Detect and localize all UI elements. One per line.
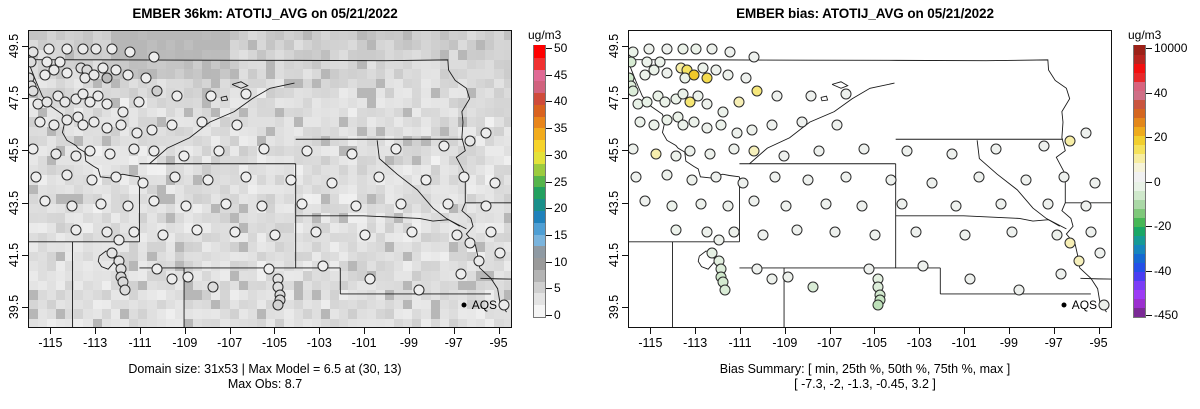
- station-marker: [95, 198, 106, 209]
- station-marker: [973, 172, 984, 183]
- station-marker: [783, 271, 794, 282]
- station-marker: [639, 195, 650, 206]
- y-tick: [622, 150, 628, 151]
- station-marker: [310, 227, 321, 238]
- station-marker: [722, 70, 733, 81]
- colorbar-segment: [1134, 135, 1145, 145]
- station-marker: [628, 57, 637, 68]
- station-marker: [841, 88, 852, 99]
- colorbar-segment: [1134, 189, 1145, 199]
- station-marker: [102, 99, 113, 110]
- colorbar-tick: [1146, 48, 1152, 49]
- station-marker: [688, 117, 699, 128]
- x-tick: [1054, 328, 1055, 334]
- colorbar-segment: [534, 245, 545, 258]
- station-marker: [129, 143, 140, 154]
- station-marker: [1065, 237, 1076, 248]
- station-marker: [481, 127, 492, 138]
- station-marker: [149, 52, 160, 63]
- colorbar-tick-label: 10000: [1154, 41, 1187, 55]
- station-marker: [104, 148, 115, 159]
- station-marker: [490, 177, 501, 188]
- station-marker: [648, 65, 659, 76]
- y-tick: [22, 46, 28, 47]
- station-marker: [48, 120, 59, 131]
- station-marker: [644, 44, 655, 55]
- station-marker: [821, 198, 832, 209]
- station-marker: [662, 114, 673, 125]
- station-marker: [697, 62, 708, 73]
- colorbar-segment: [1134, 171, 1145, 181]
- station-marker: [102, 227, 113, 238]
- station-marker: [451, 229, 462, 240]
- model-caption-line1: Domain size: 31x53 | Max Model = 6.5 at …: [0, 362, 530, 376]
- colorbar-segment: [534, 198, 545, 211]
- panel-bias-title: EMBER bias: ATOTIJ_AVG on 05/21/2022: [600, 6, 1130, 21]
- colorbar-segment: [534, 304, 545, 317]
- station-marker: [886, 175, 897, 186]
- y-tick-label: 49.5: [7, 34, 21, 58]
- colorbar-bias-bar: [1133, 45, 1146, 318]
- colorbar-segment: [1134, 298, 1145, 308]
- station-marker: [494, 248, 505, 259]
- station-marker: [711, 172, 722, 183]
- station-marker: [857, 201, 868, 212]
- colorbar-segment: [534, 139, 545, 152]
- station-marker: [805, 91, 816, 102]
- station-marker: [724, 46, 735, 57]
- station-marker: [1085, 227, 1096, 238]
- y-tick: [22, 255, 28, 256]
- station-marker: [960, 229, 971, 240]
- station-marker: [1099, 300, 1110, 311]
- station-marker: [666, 201, 677, 212]
- station-marker: [151, 86, 162, 97]
- station-marker: [677, 120, 688, 131]
- colorbar-segment: [1134, 126, 1145, 136]
- station-marker: [183, 271, 194, 282]
- station-marker: [259, 143, 270, 154]
- map-plot-bias[interactable]: AQS: [628, 30, 1112, 328]
- x-tick-label: -105: [262, 336, 287, 350]
- colorbar-segment: [1134, 45, 1145, 55]
- station-marker: [263, 263, 274, 274]
- station-marker: [792, 224, 803, 235]
- station-marker: [207, 282, 218, 293]
- colorbar-segment: [1134, 72, 1145, 82]
- colorbar-segment: [1134, 199, 1145, 209]
- station-marker: [872, 300, 883, 311]
- station-marker: [1081, 127, 1092, 138]
- y-tick: [622, 307, 628, 308]
- colorbar-tick: [1146, 315, 1152, 316]
- colorbar-tick: [1146, 226, 1152, 227]
- station-marker: [995, 198, 1006, 209]
- station-marker: [1056, 269, 1067, 280]
- station-marker: [286, 175, 297, 186]
- colorbar-segment: [1134, 144, 1145, 154]
- colorbar-tick-label: 0: [554, 308, 561, 322]
- station-marker: [796, 117, 807, 128]
- y-tick: [622, 203, 628, 204]
- y-tick: [22, 98, 28, 99]
- station-marker: [351, 201, 362, 212]
- station-marker: [30, 172, 41, 183]
- station-marker: [346, 148, 357, 159]
- model-caption-line2: Max Obs: 8.7: [0, 377, 530, 391]
- station-marker: [767, 120, 778, 131]
- colorbar-tick-label: 15: [554, 228, 567, 242]
- station-marker: [133, 96, 144, 107]
- station-marker: [102, 122, 113, 133]
- colorbar-tick-label: 20: [1154, 130, 1167, 144]
- colorbar-segment: [1134, 271, 1145, 281]
- y-tick-label: 49.5: [607, 34, 621, 58]
- station-marker: [360, 229, 371, 240]
- colorbar-segment: [1134, 217, 1145, 227]
- station-marker: [77, 120, 88, 131]
- station-marker: [443, 198, 454, 209]
- aqs-legend-dot: [1061, 302, 1066, 307]
- station-marker: [129, 227, 140, 238]
- colorbar-tick-label: -40: [1154, 264, 1171, 278]
- station-marker: [780, 201, 791, 212]
- colorbar-segment: [1134, 289, 1145, 299]
- colorbar-segment: [534, 80, 545, 93]
- x-tick-label: -113: [83, 336, 107, 350]
- x-tick: [650, 328, 651, 334]
- station-marker: [196, 117, 207, 128]
- colorbar-segment: [1134, 253, 1145, 263]
- panel-model-title: EMBER 36km: ATOTIJ_AVG on 05/21/2022: [0, 6, 530, 21]
- y-tick: [622, 255, 628, 256]
- station-marker: [407, 227, 418, 238]
- x-tick-label: -95: [1090, 336, 1108, 350]
- x-tick-label: -111: [128, 336, 151, 350]
- x-tick: [695, 328, 696, 334]
- station-marker: [662, 67, 673, 78]
- colorbar-segment: [534, 269, 545, 282]
- x-tick-label: -115: [38, 336, 62, 350]
- station-marker: [44, 44, 55, 55]
- station-marker: [301, 146, 312, 157]
- station-marker: [413, 284, 424, 295]
- colorbar-segment: [1134, 162, 1145, 172]
- station-marker: [722, 201, 733, 212]
- station-marker: [628, 143, 639, 154]
- station-marker: [111, 172, 122, 183]
- x-tick: [50, 328, 51, 334]
- station-marker: [317, 261, 328, 272]
- colorbar-tick-label: 40: [1154, 86, 1167, 100]
- station-marker: [180, 201, 191, 212]
- colorbar-tick: [546, 208, 552, 209]
- station-marker: [1065, 135, 1076, 146]
- x-tick-label: -95: [490, 336, 508, 350]
- x-tick-label: -103: [307, 336, 332, 350]
- station-marker: [1013, 284, 1024, 295]
- y-tick-label: 45.5: [607, 138, 621, 162]
- station-marker: [803, 175, 814, 186]
- station-marker: [50, 148, 61, 159]
- station-marker: [131, 127, 142, 138]
- colorbar-segment: [1134, 208, 1145, 218]
- x-tick-label: -101: [352, 336, 377, 350]
- station-marker: [691, 44, 702, 55]
- station-marker: [1090, 177, 1101, 188]
- y-tick-label: 41.5: [607, 243, 621, 267]
- station-marker: [711, 65, 722, 76]
- station-marker: [688, 70, 699, 81]
- station-marker: [120, 284, 131, 295]
- station-marker: [767, 274, 778, 285]
- station-marker: [88, 70, 99, 81]
- colorbar-segment: [1134, 117, 1145, 127]
- station-marker: [641, 96, 652, 107]
- station-marker: [147, 125, 158, 136]
- station-marker: [702, 122, 713, 133]
- x-tick-label: -97: [1045, 336, 1063, 350]
- x-tick-label: -107: [817, 336, 842, 350]
- station-marker: [62, 169, 73, 180]
- x-tick-label: -105: [862, 336, 887, 350]
- station-marker: [28, 86, 39, 97]
- x-tick: [274, 328, 275, 334]
- station-marker: [841, 172, 852, 183]
- station-marker: [391, 143, 402, 154]
- station-marker: [221, 198, 232, 209]
- colorbar-segment: [534, 186, 545, 199]
- colorbar-segment: [1134, 244, 1145, 254]
- station-marker: [901, 146, 912, 157]
- colorbar-segment: [534, 116, 545, 129]
- x-tick-label: -111: [728, 336, 751, 350]
- y-tick-label: 39.5: [607, 295, 621, 319]
- station-marker: [326, 177, 337, 188]
- colorbar-tick-label: 0: [1154, 175, 1161, 189]
- station-marker: [88, 117, 99, 128]
- station-marker: [718, 107, 729, 118]
- station-marker: [991, 143, 1002, 154]
- y-tick-label: 41.5: [7, 243, 21, 267]
- colorbar-segment: [1134, 54, 1145, 64]
- station-marker: [167, 274, 178, 285]
- station-marker: [715, 120, 726, 131]
- colorbar-tick: [546, 48, 552, 49]
- station-marker: [964, 274, 975, 285]
- colorbar-tick: [546, 75, 552, 76]
- colorbar-segment: [1134, 99, 1145, 109]
- colorbar-bias-unit: ug/m3: [1128, 28, 1161, 42]
- station-marker: [48, 65, 59, 76]
- colorbar-tick-label: 5: [554, 281, 561, 295]
- x-tick-label: -99: [400, 336, 418, 350]
- station-marker: [628, 86, 639, 97]
- station-marker: [706, 44, 717, 55]
- station-marker: [807, 282, 818, 293]
- station-marker: [917, 261, 928, 272]
- station-marker: [122, 70, 133, 81]
- colorbar-tick: [546, 101, 552, 102]
- station-marker: [832, 120, 843, 131]
- colorbar-segment: [534, 292, 545, 305]
- station-marker: [458, 172, 469, 183]
- colorbar-tick: [546, 235, 552, 236]
- x-tick: [230, 328, 231, 334]
- station-marker: [702, 73, 713, 84]
- station-marker: [169, 172, 180, 183]
- station-marker: [751, 263, 762, 274]
- station-marker: [758, 229, 769, 240]
- colorbar-tick: [1146, 182, 1152, 183]
- station-marker: [102, 73, 113, 84]
- colorbar-segment: [534, 151, 545, 164]
- station-marker: [713, 235, 724, 246]
- station-markers-bias: [629, 31, 1111, 327]
- station-marker: [373, 172, 384, 183]
- y-tick: [622, 98, 628, 99]
- station-marker: [951, 201, 962, 212]
- colorbar-model-bar: [533, 45, 546, 318]
- station-marker: [863, 263, 874, 274]
- station-marker: [167, 120, 178, 131]
- station-marker: [28, 46, 39, 57]
- station-marker: [241, 172, 252, 183]
- x-tick: [454, 328, 455, 334]
- station-marker: [686, 175, 697, 186]
- station-marker: [671, 224, 682, 235]
- station-marker: [364, 274, 375, 285]
- station-marker: [747, 125, 758, 136]
- station-marker: [662, 169, 673, 180]
- station-marker: [474, 256, 485, 267]
- station-marker: [704, 148, 715, 159]
- x-tick: [919, 328, 920, 334]
- station-marker: [628, 46, 639, 57]
- station-marker: [751, 86, 762, 97]
- station-marker: [297, 198, 308, 209]
- station-marker: [122, 201, 133, 212]
- y-tick-label: 39.5: [7, 295, 21, 319]
- station-marker: [71, 224, 82, 235]
- station-marker: [158, 229, 169, 240]
- colorbar-tick-label: -450: [1154, 308, 1178, 322]
- colorbar-tick: [1146, 137, 1152, 138]
- station-marker: [205, 91, 216, 102]
- station-marker: [111, 65, 122, 76]
- station-marker: [97, 62, 108, 73]
- station-marker: [729, 227, 740, 238]
- station-marker: [814, 146, 825, 157]
- x-tick: [499, 328, 500, 334]
- station-marker: [720, 284, 731, 295]
- station-marker: [859, 143, 870, 154]
- station-marker: [749, 195, 760, 206]
- station-marker: [66, 201, 77, 212]
- x-tick: [409, 328, 410, 334]
- station-marker: [151, 263, 162, 274]
- colorbar-segment: [1134, 307, 1145, 317]
- station-marker: [62, 67, 73, 78]
- station-marker: [499, 300, 510, 311]
- station-marker: [738, 177, 749, 188]
- colorbar-tick: [1146, 93, 1152, 94]
- x-tick-label: -109: [172, 336, 197, 350]
- colorbar-segment: [1134, 235, 1145, 245]
- panel-bias: EMBER bias: ATOTIJ_AVG on 05/21/2022 AQS…: [600, 0, 1200, 409]
- station-marker: [124, 46, 135, 57]
- colorbar-tick-label: 50: [554, 41, 567, 55]
- station-marker: [946, 148, 957, 159]
- station-marker: [149, 195, 160, 206]
- station-marker: [192, 224, 203, 235]
- figure-root: EMBER 36km: ATOTIJ_AVG on 05/21/2022 AQS…: [0, 0, 1200, 409]
- station-marker: [702, 227, 713, 238]
- station-marker: [481, 201, 492, 212]
- colorbar-segment: [1134, 90, 1145, 100]
- x-tick: [364, 328, 365, 334]
- colorbar-segment: [534, 233, 545, 246]
- y-tick-label: 45.5: [7, 138, 21, 162]
- colorbar-segment: [534, 163, 545, 176]
- station-marker: [77, 44, 88, 55]
- panel-model: EMBER 36km: ATOTIJ_AVG on 05/21/2022 AQS…: [0, 0, 600, 409]
- station-marker: [71, 151, 82, 162]
- colorbar-segment: [1134, 153, 1145, 163]
- colorbar-segment: [1134, 226, 1145, 236]
- colorbar-segment: [1134, 262, 1145, 272]
- station-marker: [659, 96, 670, 107]
- station-marker: [740, 73, 751, 84]
- station-marker: [1007, 227, 1018, 238]
- station-marker: [778, 151, 789, 162]
- station-marker: [118, 107, 129, 118]
- x-tick: [319, 328, 320, 334]
- station-marker: [465, 135, 476, 146]
- station-marker: [241, 88, 252, 99]
- x-tick-label: -97: [445, 336, 463, 350]
- station-marker: [84, 146, 95, 157]
- station-marker: [1074, 256, 1085, 267]
- station-marker: [671, 151, 682, 162]
- x-tick-label: -101: [952, 336, 977, 350]
- aqs-legend-label: AQS: [1072, 298, 1097, 312]
- colorbar-tick-label: 10: [554, 255, 567, 269]
- aqs-legend-label: AQS: [472, 298, 497, 312]
- station-marker: [1038, 141, 1049, 152]
- map-plot-model[interactable]: AQS: [28, 30, 512, 328]
- colorbar-tick: [546, 155, 552, 156]
- colorbar-segment: [534, 92, 545, 105]
- colorbar-segment: [1134, 108, 1145, 118]
- colorbar-tick-label: 45: [554, 68, 567, 82]
- station-marker: [178, 151, 189, 162]
- station-marker: [769, 172, 780, 183]
- colorbar-segment: [534, 175, 545, 188]
- x-tick: [740, 328, 741, 334]
- station-marker: [149, 146, 160, 157]
- station-marker: [1020, 175, 1031, 186]
- colorbar-segment: [534, 69, 545, 82]
- y-tick-label: 43.5: [607, 190, 621, 214]
- x-tick: [785, 328, 786, 334]
- x-tick: [95, 328, 96, 334]
- station-marker: [695, 198, 706, 209]
- colorbar-segment: [534, 57, 545, 70]
- x-tick-label: -115: [638, 336, 662, 350]
- bias-caption-line1: Bias Summary: [ min, 25th %, 50th %, 75t…: [600, 362, 1130, 376]
- station-marker: [1043, 198, 1054, 209]
